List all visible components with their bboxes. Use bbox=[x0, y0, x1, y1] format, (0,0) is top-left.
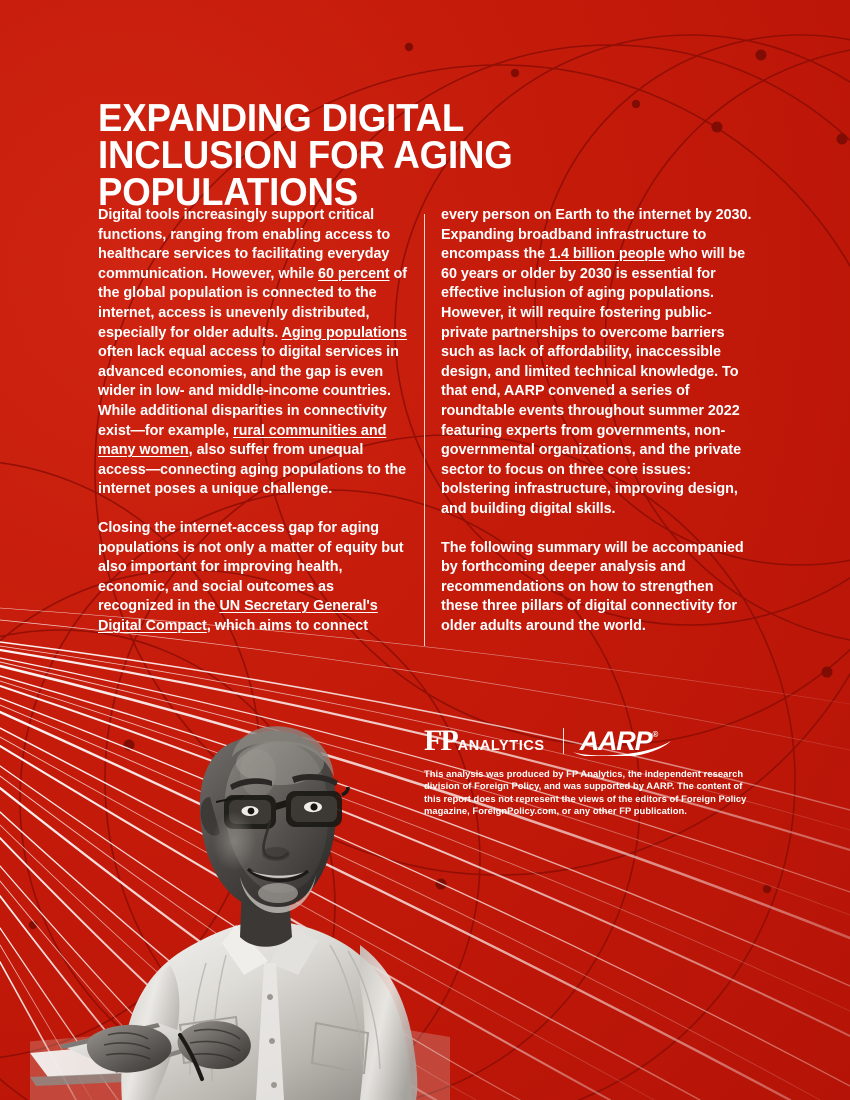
right-paragraph-1: every person on Earth to the internet by… bbox=[441, 206, 753, 520]
logo-lockup: FP ANALYTICS AARP ® bbox=[424, 724, 658, 758]
right-paragraph-2: The following summary will be accompanie… bbox=[441, 539, 753, 637]
left-column: Digital tools increasingly support criti… bbox=[98, 206, 410, 655]
aarp-logo[interactable]: AARP ® bbox=[580, 728, 659, 755]
page-title: EXPANDING DIGITAL INCLUSION FOR AGING PO… bbox=[98, 100, 540, 211]
text-run: , which aims to connect bbox=[207, 618, 368, 634]
portrait-photo-older-man-with-tablet bbox=[30, 645, 450, 1100]
text-run: who will be 60 years or older by 2030 is… bbox=[441, 246, 745, 517]
fp-monogram: FP bbox=[424, 727, 457, 755]
logo-separator bbox=[563, 728, 564, 754]
link-60-percent[interactable]: 60 percent bbox=[318, 266, 390, 282]
column-divider bbox=[424, 214, 425, 646]
right-column: every person on Earth to the internet by… bbox=[441, 206, 753, 655]
link-aging-populations[interactable]: Aging populations bbox=[282, 325, 407, 341]
link-1-4-billion-people[interactable]: 1.4 billion people bbox=[549, 246, 665, 262]
left-paragraph-2: Closing the internet-access gap for agin… bbox=[98, 519, 410, 637]
footer-disclaimer: This analysis was produced by FP Analyti… bbox=[424, 768, 754, 818]
aarp-swoosh-icon bbox=[571, 736, 675, 756]
poster-page: EXPANDING DIGITAL INCLUSION FOR AGING PO… bbox=[0, 0, 850, 1100]
fp-analytics-logo[interactable]: FP ANALYTICS bbox=[424, 727, 545, 755]
left-paragraph-1: Digital tools increasingly support criti… bbox=[98, 206, 410, 500]
fp-analytics-wordmark: ANALYTICS bbox=[458, 738, 545, 754]
